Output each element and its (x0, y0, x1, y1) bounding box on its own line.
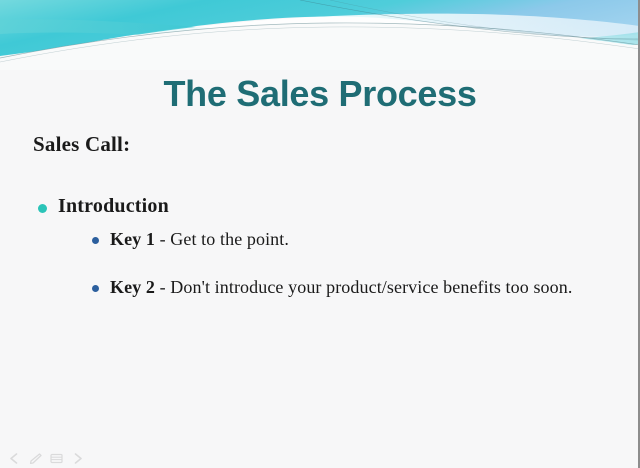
pen-annotation-icon[interactable] (29, 453, 42, 464)
bullet-list-level1: Introduction Key 1 - Get to the point. K… (32, 195, 616, 300)
bullet-list-level2: Key 1 - Get to the point. Key 2 - Don't … (58, 228, 616, 300)
key-description: Don't introduce your product/service ben… (170, 277, 572, 297)
key-description: Get to the point. (170, 229, 289, 249)
bullet-label-introduction: Introduction (58, 195, 169, 217)
blue-dot-bullet-icon (92, 237, 99, 244)
slideshow-toolbar[interactable] (8, 453, 84, 464)
title-block: The Sales Process (0, 74, 640, 114)
blue-dot-bullet-icon (92, 285, 99, 292)
previous-slide-icon[interactable] (8, 453, 21, 464)
wave-banner-graphic (0, 0, 640, 70)
key-separator: - (155, 277, 170, 297)
presentation-slide: The Sales Process Sales Call: Introducti… (0, 0, 640, 468)
slide-body: Sales Call: Introduction Key 1 - Get to … (32, 132, 616, 324)
teal-dot-bullet-icon (38, 204, 47, 213)
next-slide-icon[interactable] (71, 453, 84, 464)
section-heading: Sales Call: (33, 132, 616, 157)
slide-menu-icon[interactable] (50, 453, 63, 464)
key-label: Key 2 (110, 277, 155, 297)
bullet-text-key-2: Key 2 - Don't introduce your product/ser… (110, 277, 572, 297)
list-item: Key 1 - Get to the point. (84, 228, 616, 252)
bullet-text-key-1: Key 1 - Get to the point. (110, 229, 289, 249)
list-item: Introduction Key 1 - Get to the point. K… (32, 195, 616, 300)
page-title: The Sales Process (0, 74, 640, 114)
key-separator: - (155, 229, 170, 249)
key-label: Key 1 (110, 229, 155, 249)
list-item: Key 2 - Don't introduce your product/ser… (84, 276, 616, 300)
